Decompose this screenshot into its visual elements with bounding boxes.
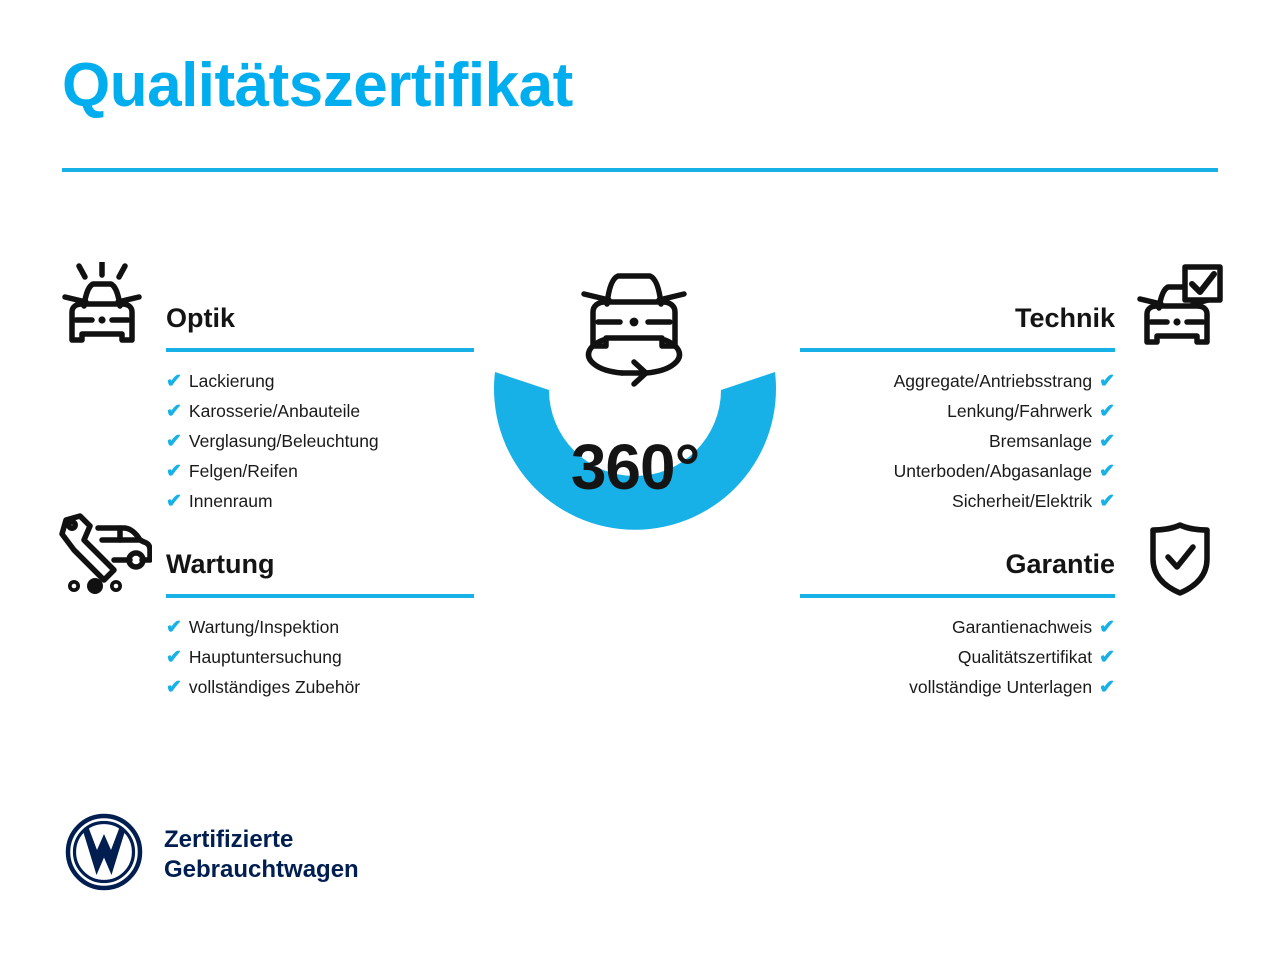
vw-logo-icon — [64, 812, 144, 897]
list-item-label: Bremsanlage — [989, 426, 1092, 456]
check-icon: ✔ — [166, 432, 182, 451]
section-optik-list: ✔Lackierung ✔Karosserie/Anbauteile ✔Verg… — [166, 366, 474, 516]
gebrauchtwagen-check-badge: Gebrauchtwagen-Check 360° — [455, 252, 815, 632]
section-technik-title: Technik — [800, 300, 1115, 336]
list-item-label: Hauptuntersuchung — [189, 642, 342, 672]
list-item: Aggregate/Antriebsstrang✔ — [800, 366, 1115, 396]
section-wartung-title: Wartung — [166, 546, 474, 582]
list-item-label: Verglasung/Beleuchtung — [189, 426, 379, 456]
section-technik-divider — [800, 348, 1115, 352]
list-item-label: Lackierung — [189, 366, 275, 396]
list-item: ✔Innenraum — [166, 486, 474, 516]
section-wartung: Wartung ✔Wartung/Inspektion ✔Hauptunters… — [166, 546, 474, 702]
badge-center-label: 360° — [455, 430, 815, 504]
header-divider — [62, 168, 1218, 172]
check-icon: ✔ — [166, 678, 182, 697]
section-technik: Technik Aggregate/Antriebsstrang✔ Lenkun… — [800, 300, 1115, 516]
section-wartung-list: ✔Wartung/Inspektion ✔Hauptuntersuchung ✔… — [166, 612, 474, 702]
list-item: vollständige Unterlagen✔ — [800, 672, 1115, 702]
list-item: ✔vollständiges Zubehör — [166, 672, 474, 702]
check-icon: ✔ — [166, 402, 182, 421]
list-item-label: Felgen/Reifen — [189, 456, 298, 486]
check-icon: ✔ — [166, 492, 182, 511]
list-item: ✔Hauptuntersuchung — [166, 642, 474, 672]
list-item: Unterboden/Abgasanlage✔ — [800, 456, 1115, 486]
check-icon: ✔ — [1099, 678, 1115, 697]
list-item-label: Qualitätszertifikat — [958, 642, 1092, 672]
section-garantie-title: Garantie — [800, 546, 1115, 582]
list-item: ✔Karosserie/Anbauteile — [166, 396, 474, 426]
check-icon: ✔ — [1099, 648, 1115, 667]
list-item: Garantienachweis✔ — [800, 612, 1115, 642]
check-icon: ✔ — [1099, 618, 1115, 637]
section-wartung-divider — [166, 594, 474, 598]
section-garantie: Garantie Garantienachweis✔ Qualitätszert… — [800, 546, 1115, 702]
list-item: Qualitätszertifikat✔ — [800, 642, 1115, 672]
footer-branding-text: Zertifizierte Gebrauchtwagen — [164, 825, 359, 885]
check-icon: ✔ — [166, 648, 182, 667]
list-item: ✔Verglasung/Beleuchtung — [166, 426, 474, 456]
list-item-label: Aggregate/Antriebsstrang — [894, 366, 1092, 396]
section-wartung-header: Wartung — [166, 546, 474, 598]
list-item-label: Lenkung/Fahrwerk — [947, 396, 1092, 426]
list-item: Sicherheit/Elektrik✔ — [800, 486, 1115, 516]
list-item-label: vollständiges Zubehör — [189, 672, 360, 702]
check-icon: ✔ — [166, 618, 182, 637]
list-item-label: Sicherheit/Elektrik — [952, 486, 1092, 516]
car-service-tool-icon — [58, 512, 152, 599]
list-item-label: Garantienachweis — [952, 612, 1092, 642]
list-item: Lenkung/Fahrwerk✔ — [800, 396, 1115, 426]
page-title: Qualitätszertifikat — [62, 52, 573, 120]
section-optik-title: Optik — [166, 300, 474, 336]
car-rotate-icon — [584, 276, 684, 384]
car-checkbox-icon — [1137, 264, 1223, 351]
list-item-label: Unterboden/Abgasanlage — [894, 456, 1093, 486]
section-garantie-header: Garantie — [800, 546, 1115, 598]
check-icon: ✔ — [1099, 432, 1115, 451]
footer-branding: Zertifizierte Gebrauchtwagen — [64, 812, 359, 897]
check-icon: ✔ — [1099, 492, 1115, 511]
check-icon: ✔ — [1099, 402, 1115, 421]
check-icon: ✔ — [1099, 462, 1115, 481]
list-item-label: vollständige Unterlagen — [909, 672, 1092, 702]
list-item: ✔Felgen/Reifen — [166, 456, 474, 486]
section-optik-divider — [166, 348, 474, 352]
list-item-label: Innenraum — [189, 486, 273, 516]
section-optik: Optik ✔Lackierung ✔Karosserie/Anbauteile… — [166, 300, 474, 516]
list-item-label: Karosserie/Anbauteile — [189, 396, 360, 426]
shield-check-icon — [1148, 521, 1212, 602]
list-item: Bremsanlage✔ — [800, 426, 1115, 456]
section-optik-header: Optik — [166, 300, 474, 352]
check-icon: ✔ — [166, 462, 182, 481]
check-icon: ✔ — [166, 372, 182, 391]
section-garantie-list: Garantienachweis✔ Qualitätszertifikat✔ v… — [800, 612, 1115, 702]
car-shine-icon — [62, 262, 142, 357]
section-garantie-divider — [800, 594, 1115, 598]
section-technik-header: Technik — [800, 300, 1115, 352]
check-icon: ✔ — [1099, 372, 1115, 391]
list-item: ✔Wartung/Inspektion — [166, 612, 474, 642]
list-item-label: Wartung/Inspektion — [189, 612, 339, 642]
list-item: ✔Lackierung — [166, 366, 474, 396]
section-technik-list: Aggregate/Antriebsstrang✔ Lenkung/Fahrwe… — [800, 366, 1115, 516]
